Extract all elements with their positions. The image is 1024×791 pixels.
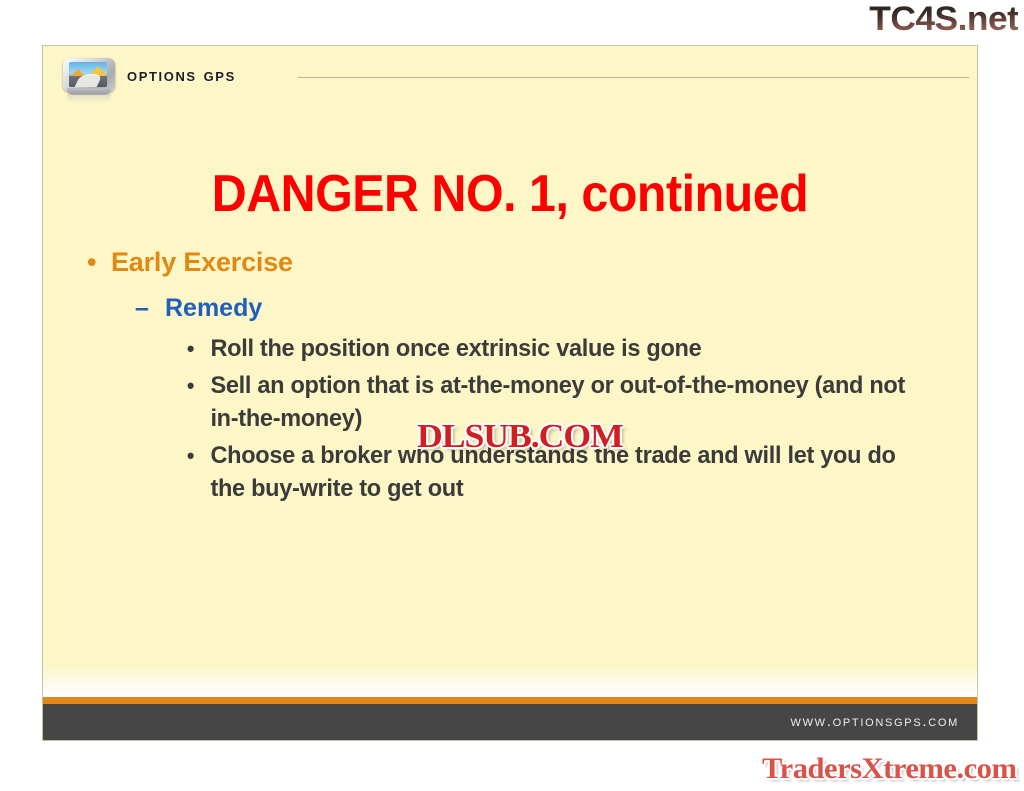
bullet-level3-label: Roll the position once extrinsic value i… xyxy=(210,335,701,362)
slide-title: DANGER NO. 1, continued xyxy=(76,165,945,223)
gps-device-reflection xyxy=(67,94,111,103)
brand-logo-label: Options GPS xyxy=(127,65,236,87)
overlay-watermark: DLSUB.COM xyxy=(417,420,623,454)
footer-accent-bar xyxy=(43,697,977,704)
slide-footer: www.OptionsGPS.com xyxy=(43,704,977,740)
footer-fade xyxy=(43,664,977,698)
site-watermark-top: TC4S.net xyxy=(869,2,1018,36)
bullet-marker-level3: • xyxy=(187,439,194,472)
header-divider xyxy=(298,77,969,78)
bullet-level3-item: • Roll the position once extrinsic value… xyxy=(183,332,936,365)
slide-body: • Early Exercise – Remedy • Roll the pos… xyxy=(43,246,977,509)
bullet-level2: – Remedy xyxy=(135,293,977,324)
bullet-level1-label: Early Exercise xyxy=(111,247,293,277)
bullet-marker-level1: • xyxy=(87,246,96,279)
slide-header: Options GPS xyxy=(43,46,977,104)
bullet-level2-label: Remedy xyxy=(165,294,262,322)
affiliate-watermark-bottom: TradersXtreme.com xyxy=(762,753,1016,785)
bullet-level1: • Early Exercise xyxy=(83,246,977,279)
gps-device-icon xyxy=(63,58,115,96)
bullet-marker-level3: • xyxy=(187,369,194,402)
footer-url-label: www.OptionsGPS.com xyxy=(791,713,959,730)
bullet-marker-level3: • xyxy=(187,332,194,365)
presentation-slide: Options GPS DANGER NO. 1, continued • Ea… xyxy=(42,45,978,741)
bullet-marker-level2: – xyxy=(135,293,149,324)
gps-device-screen xyxy=(69,62,107,87)
